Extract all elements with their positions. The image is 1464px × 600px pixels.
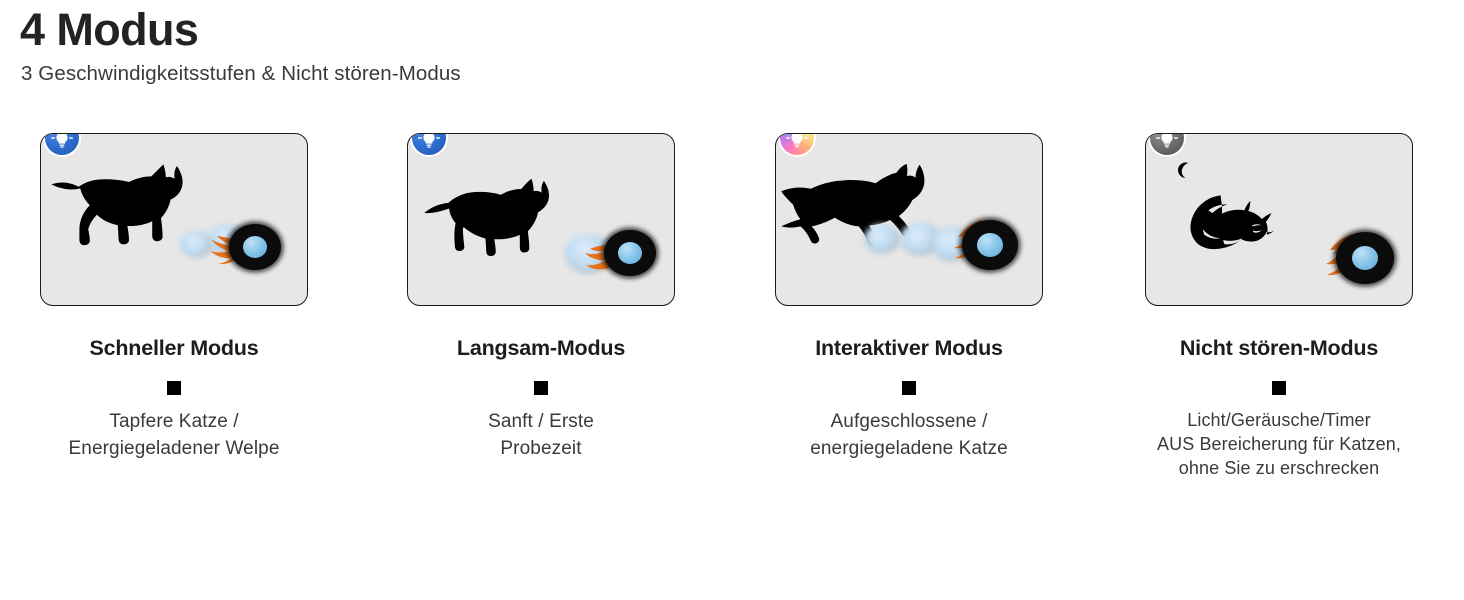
page-title: 4 Modus <box>20 6 1420 55</box>
motion-ghost <box>864 224 900 254</box>
mode-illustration-card <box>775 133 1043 306</box>
brightness-bulb-off-icon <box>1150 133 1184 155</box>
crescent-moon-icon <box>1176 162 1193 179</box>
walking-cat-scene <box>408 134 674 305</box>
walking-cat-icon <box>422 178 568 264</box>
mode-bullet <box>902 381 916 395</box>
mode-title: Schneller Modus <box>40 337 308 361</box>
running-cat-scene <box>41 134 307 305</box>
toy-ball <box>243 236 267 258</box>
sleeping-cat-scene <box>1146 134 1412 305</box>
bulb-glyph <box>1155 133 1179 150</box>
mode-illustration-card <box>1145 133 1413 306</box>
sleeping-cat-icon <box>1188 190 1310 258</box>
mode-card-interaktiver-modus[interactable]: Interaktiver Modus Aufgeschlossene / ene… <box>775 133 1043 463</box>
mode-card-langsam-modus[interactable]: Langsam-Modus Sanft / Erste Probezeit <box>407 133 675 463</box>
mode-bullet <box>167 381 181 395</box>
mode-title: Interaktiver Modus <box>775 337 1043 361</box>
bulb-glyph <box>417 133 441 150</box>
mode-description: Licht/Geräusche/Timer AUS Bereicherung f… <box>1129 408 1429 481</box>
mode-description: Aufgeschlossene / energiegeladene Katze <box>775 409 1043 463</box>
mode-title: Langsam-Modus <box>407 337 675 361</box>
cat-toy-ball <box>229 224 289 270</box>
toy-ball <box>977 233 1003 257</box>
brightness-bulb-icon <box>780 133 814 155</box>
page-header: 4 Modus 3 Geschwindigkeitsstufen & Nicht… <box>20 6 1420 86</box>
page-subtitle: 3 Geschwindigkeitsstufen & Nicht stören-… <box>21 62 1420 86</box>
mode-description: Tapfere Katze / Energiegeladener Welpe <box>40 409 308 463</box>
mode-bullet <box>1272 381 1286 395</box>
bulb-glyph <box>785 133 809 150</box>
cat-toy-ball <box>604 230 662 276</box>
mode-illustration-card <box>40 133 308 306</box>
mode-description: Sanft / Erste Probezeit <box>407 409 675 463</box>
modes-row: Schneller Modus Tapfere Katze / Energieg… <box>0 133 1464 533</box>
leaping-cat-scene <box>776 134 1042 305</box>
mode-card-schneller-modus[interactable]: Schneller Modus Tapfere Katze / Energieg… <box>40 133 308 463</box>
mode-card-nicht-stoeren-modus[interactable]: Nicht stören-Modus Licht/Geräusche/Timer… <box>1145 133 1413 481</box>
mode-title: Nicht stören-Modus <box>1145 337 1413 361</box>
mode-illustration-card <box>407 133 675 306</box>
cat-toy-ball <box>962 220 1022 270</box>
toy-ball <box>1352 246 1378 270</box>
brightness-bulb-icon <box>412 133 446 155</box>
mode-bullet <box>534 381 548 395</box>
brightness-bulb-icon <box>45 133 79 155</box>
cat-toy-ball <box>1336 232 1398 284</box>
toy-ball <box>618 242 642 264</box>
bulb-glyph <box>50 133 74 150</box>
